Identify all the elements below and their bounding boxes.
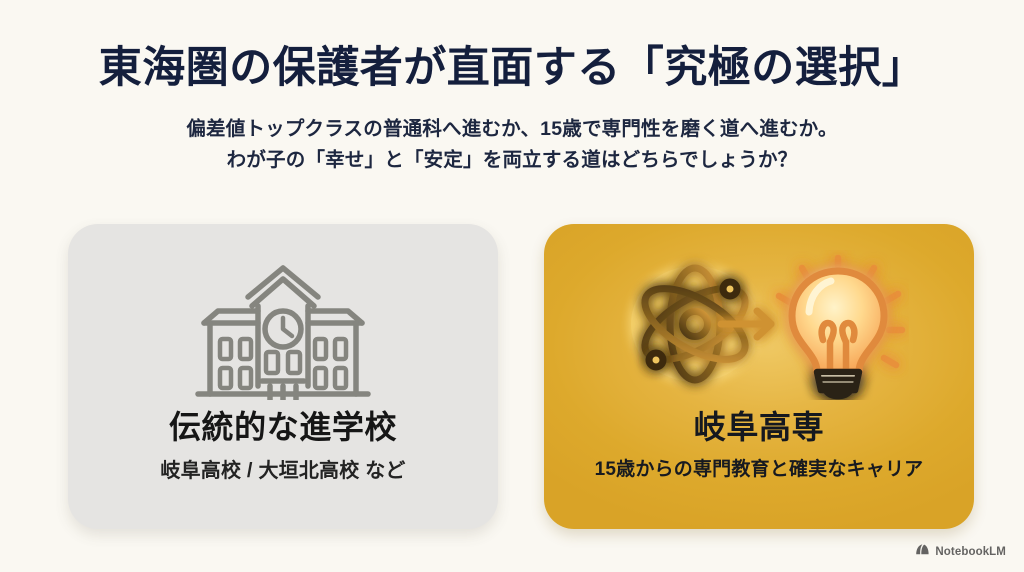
subtitle-line-1: 偏差値トップクラスの普通科へ進むか、15歳で専門性を磨く道へ進むか。 bbox=[0, 114, 1024, 146]
card-title-traditional: 伝統的な進学校 bbox=[68, 408, 498, 446]
card-subtitle-traditional: 岐阜高校 / 大垣北高校 など bbox=[68, 459, 498, 483]
comparison-cards: 伝統的な進学校 岐阜高校 / 大垣北高校 など bbox=[68, 224, 974, 529]
slide-subtitle: 偏差値トップクラスの普通科へ進むか、15歳で専門性を磨く道へ進むか。 わが子の「… bbox=[0, 114, 1024, 177]
page-title: 東海圏の保護者が直面する「究極の選択」 bbox=[0, 44, 1024, 94]
notebooklm-watermark: NotebookLM bbox=[915, 543, 1006, 561]
atom-to-lightbulb-icon bbox=[609, 250, 909, 400]
subtitle-line-2: わが子の「幸せ」と「安定」を両立する道はどちらでしょうか？ bbox=[0, 145, 1024, 177]
card-title-kosen: 岐阜高専 bbox=[544, 408, 974, 446]
watermark-label: NotebookLM bbox=[935, 546, 1006, 558]
school-building-icon bbox=[188, 250, 378, 400]
slide-canvas: 東海圏の保護者が直面する「究極の選択」 偏差値トップクラスの普通科へ進むか、15… bbox=[0, 0, 1024, 572]
notebooklm-logo-icon bbox=[915, 543, 930, 561]
card-text-kosen: 岐阜高専 15歳からの専門教育と確実なキャリア bbox=[544, 408, 974, 501]
slide-header: 東海圏の保護者が直面する「究極の選択」 偏差値トップクラスの普通科へ進むか、15… bbox=[0, 0, 1024, 177]
card-gifu-kosen[interactable]: 岐阜高専 15歳からの専門教育と確実なキャリア bbox=[544, 224, 974, 529]
card-traditional-school[interactable]: 伝統的な進学校 岐阜高校 / 大垣北高校 など bbox=[68, 224, 498, 529]
card-subtitle-kosen: 15歳からの専門教育と確実なキャリア bbox=[544, 459, 974, 482]
card-text-traditional: 伝統的な進学校 岐阜高校 / 大垣北高校 など bbox=[68, 408, 498, 503]
